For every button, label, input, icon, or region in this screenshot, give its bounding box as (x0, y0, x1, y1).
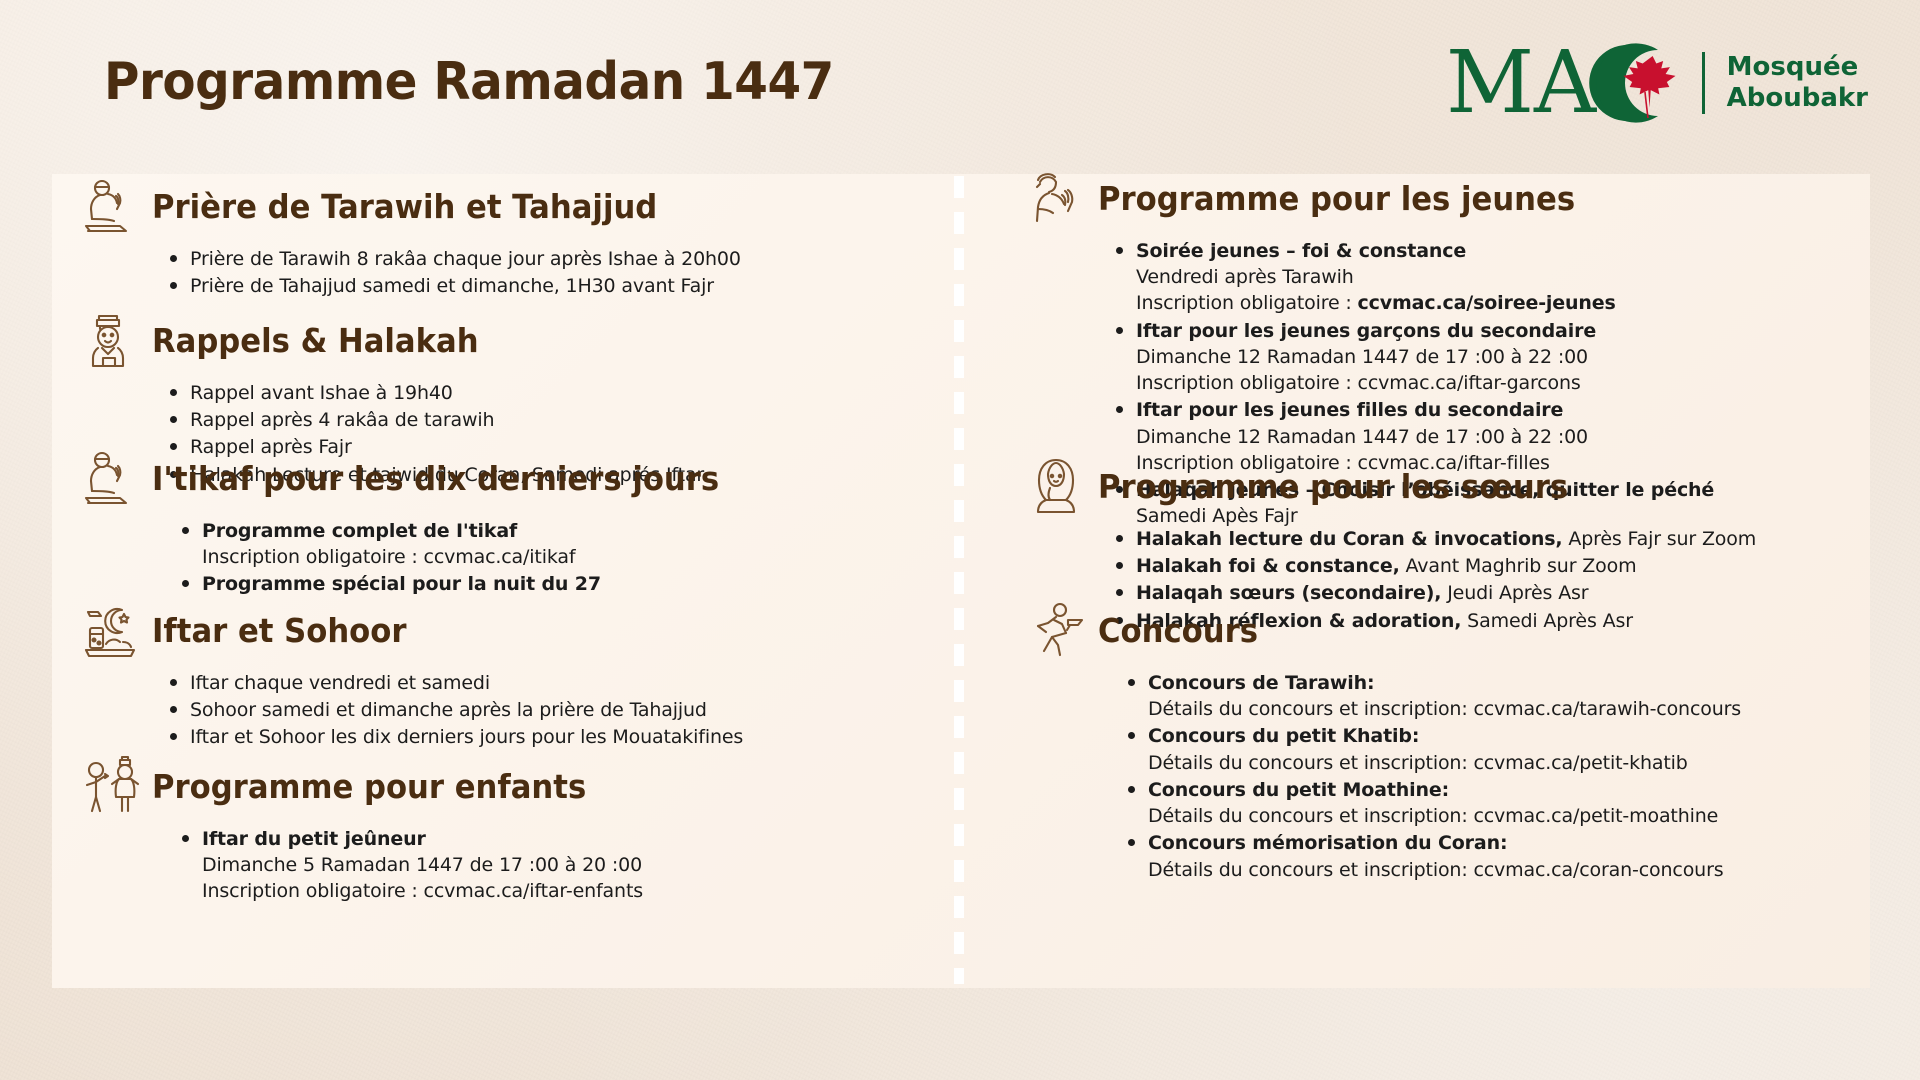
section-header: Prière de Tarawih et Tahajjud (78, 174, 741, 238)
list-item-main: Rappel après 4 rakâa de tarawih (190, 409, 494, 431)
section-list: Prière de Tarawih 8 rakâa chaque jour ap… (78, 246, 741, 299)
list-item-main: Halakah foi & constance, (1136, 555, 1400, 577)
section-list: Iftar chaque vendredi et samediSohoor sa… (78, 670, 743, 751)
program-section: Iftar et Sohoor Iftar chaque vendredi et… (78, 598, 743, 752)
list-item-main: Concours du petit Khatib: (1148, 725, 1419, 747)
section-header: Iftar et Sohoor (78, 598, 743, 662)
left-column: Prière de Tarawih et Tahajjud Prière de … (52, 174, 952, 988)
list-item-detail: Inscription obligatoire : ccvmac.ca/ifta… (1136, 370, 1714, 396)
program-section: Prière de Tarawih et Tahajjud Prière de … (78, 174, 741, 300)
section-header: Programme pour enfants (78, 754, 643, 818)
list-item: Halakah lecture du Coran & invocations, … (1136, 526, 1756, 552)
section-header: Concours (1024, 598, 1741, 662)
logo-divider (1702, 52, 1705, 114)
list-item-detail: Détails du concours et inscription: ccvm… (1148, 750, 1741, 776)
list-item: Prière de Tarawih 8 rakâa chaque jour ap… (190, 246, 741, 272)
section-header: Programme pour les sœurs (1024, 454, 1756, 518)
list-item: Iftar et Sohoor les dix derniers jours p… (190, 724, 743, 750)
program-section: Concours Concours de Tarawih:Détails du … (1024, 598, 1741, 884)
list-item-main: Concours mémorisation du Coran: (1148, 832, 1507, 854)
section-title: Programme pour enfants (152, 770, 586, 803)
mac-logo-mark: MA (1446, 40, 1696, 126)
list-item: Iftar chaque vendredi et samedi (190, 670, 743, 696)
imam-with-book-icon (78, 308, 142, 372)
list-item-detail: Inscription obligatoire : ccvmac.ca/soir… (1136, 290, 1714, 316)
list-item-detail: Inscription obligatoire : ccvmac.ca/itik… (202, 544, 762, 570)
list-item-main: Sohoor samedi et dimanche après la prièr… (190, 699, 707, 721)
section-title: Concours (1098, 614, 1258, 647)
list-item: Iftar pour les jeunes garçons du seconda… (1136, 318, 1714, 397)
list-item: Prière de Tahajjud samedi et dimanche, 1… (190, 273, 741, 299)
children-icon (78, 754, 142, 818)
list-item-main: Rappel avant Ishae à 19h40 (190, 382, 453, 404)
list-item: Rappel avant Ishae à 19h40 (190, 380, 704, 406)
right-column: Programme pour les jeunes Soirée jeunes … (1000, 174, 1870, 988)
list-item-main: Halakah lecture du Coran & invocations, (1136, 528, 1562, 550)
list-item-detail: Détails du concours et inscription: ccvm… (1148, 857, 1741, 883)
list-item-tail: Après Fajr sur Zoom (1562, 528, 1756, 550)
logo-name-line2: Aboubakr (1727, 83, 1868, 114)
list-item-main: Concours de Tarawih: (1148, 672, 1374, 694)
section-list: Iftar du petit jeûneurDimanche 5 Ramadan… (78, 826, 643, 905)
hijabi-woman-icon (1024, 454, 1088, 518)
list-item-detail: Dimanche 5 Ramadan 1447 de 17 :00 à 20 :… (202, 852, 643, 878)
section-list: Programme complet de I'tikafInscription … (78, 518, 762, 598)
list-item-detail: Dimanche 12 Ramadan 1447 de 17 :00 à 22 … (1136, 344, 1714, 370)
section-title: Programme pour les sœurs (1098, 470, 1568, 503)
list-item: Concours du petit Khatib:Détails du conc… (1148, 723, 1741, 775)
list-item-main: Iftar du petit jeûneur (202, 828, 426, 850)
svg-text:MA: MA (1446, 40, 1597, 126)
section-title: I'tikaf pour les dix derniers jours (152, 462, 719, 495)
list-item: Concours du petit Moathine:Détails du co… (1148, 777, 1741, 829)
list-item-detail: Vendredi après Tarawih (1136, 264, 1714, 290)
section-title: Prière de Tarawih et Tahajjud (152, 190, 657, 223)
section-title: Iftar et Sohoor (152, 614, 406, 647)
list-item: Rappel après 4 rakâa de tarawih (190, 407, 704, 433)
section-header: Programme pour les jeunes (1024, 166, 1714, 230)
program-section: I'tikaf pour les dix derniers jours Prog… (78, 446, 762, 599)
list-item-detail: Dimanche 12 Ramadan 1447 de 17 :00 à 22 … (1136, 424, 1714, 450)
mac-logo: MA Mosquée Aboubakr (1446, 40, 1868, 126)
list-item-main: Iftar et Sohoor les dix derniers jours p… (190, 726, 743, 748)
young-man-praying-icon (1024, 166, 1088, 230)
page-header: Programme Ramadan 1447 MA Mosquée Abouba… (0, 0, 1920, 174)
list-item-main: Iftar pour les jeunes filles du secondai… (1136, 399, 1563, 421)
list-item-detail: Inscription obligatoire : ccvmac.ca/ifta… (202, 878, 643, 904)
list-item-main: Iftar pour les jeunes garçons du seconda… (1136, 320, 1596, 342)
iftar-meal-icon (78, 598, 142, 662)
list-item: Concours mémorisation du Coran:Détails d… (1148, 830, 1741, 882)
list-item-main: Programme spécial pour la nuit du 27 (202, 573, 601, 595)
logo-organization-name: Mosquée Aboubakr (1727, 52, 1868, 113)
list-item: Halakah foi & constance, Avant Maghrib s… (1136, 553, 1756, 579)
list-item-main: Prière de Tahajjud samedi et dimanche, 1… (190, 275, 714, 297)
column-divider (954, 176, 964, 984)
list-item: Concours de Tarawih:Détails du concours … (1148, 670, 1741, 722)
list-item: Soirée jeunes – foi & constanceVendredi … (1136, 238, 1714, 317)
list-item-main: Iftar chaque vendredi et samedi (190, 672, 490, 694)
program-section: Programme pour enfants Iftar du petit je… (78, 754, 643, 906)
running-person-icon (1024, 598, 1088, 662)
page-title: Programme Ramadan 1447 (104, 52, 834, 112)
list-item: Iftar du petit jeûneurDimanche 5 Ramadan… (202, 826, 643, 905)
praying-person-icon (78, 174, 142, 238)
section-list: Concours de Tarawih:Détails du concours … (1024, 670, 1741, 883)
section-title: Programme pour les jeunes (1098, 182, 1575, 215)
list-item-tail: Avant Maghrib sur Zoom (1400, 555, 1637, 577)
list-item-main: Soirée jeunes – foi & constance (1136, 240, 1466, 262)
section-header: Rappels & Halakah (78, 308, 704, 372)
list-item-detail: Détails du concours et inscription: ccvm… (1148, 803, 1741, 829)
list-item-main: Prière de Tarawih 8 rakâa chaque jour ap… (190, 248, 741, 270)
praying-person-icon (78, 446, 142, 510)
list-item: Programme spécial pour la nuit du 27 (202, 571, 762, 597)
logo-name-line1: Mosquée (1727, 52, 1868, 83)
list-item-main: Concours du petit Moathine: (1148, 779, 1449, 801)
section-title: Rappels & Halakah (152, 324, 479, 357)
list-item-main: Programme complet de I'tikaf (202, 520, 517, 542)
section-header: I'tikaf pour les dix derniers jours (78, 446, 762, 510)
list-item-detail: Détails du concours et inscription: ccvm… (1148, 696, 1741, 722)
list-item: Programme complet de I'tikafInscription … (202, 518, 762, 570)
registration-url[interactable]: ccvmac.ca/soiree-jeunes (1358, 292, 1616, 314)
list-item: Sohoor samedi et dimanche après la prièr… (190, 697, 743, 723)
